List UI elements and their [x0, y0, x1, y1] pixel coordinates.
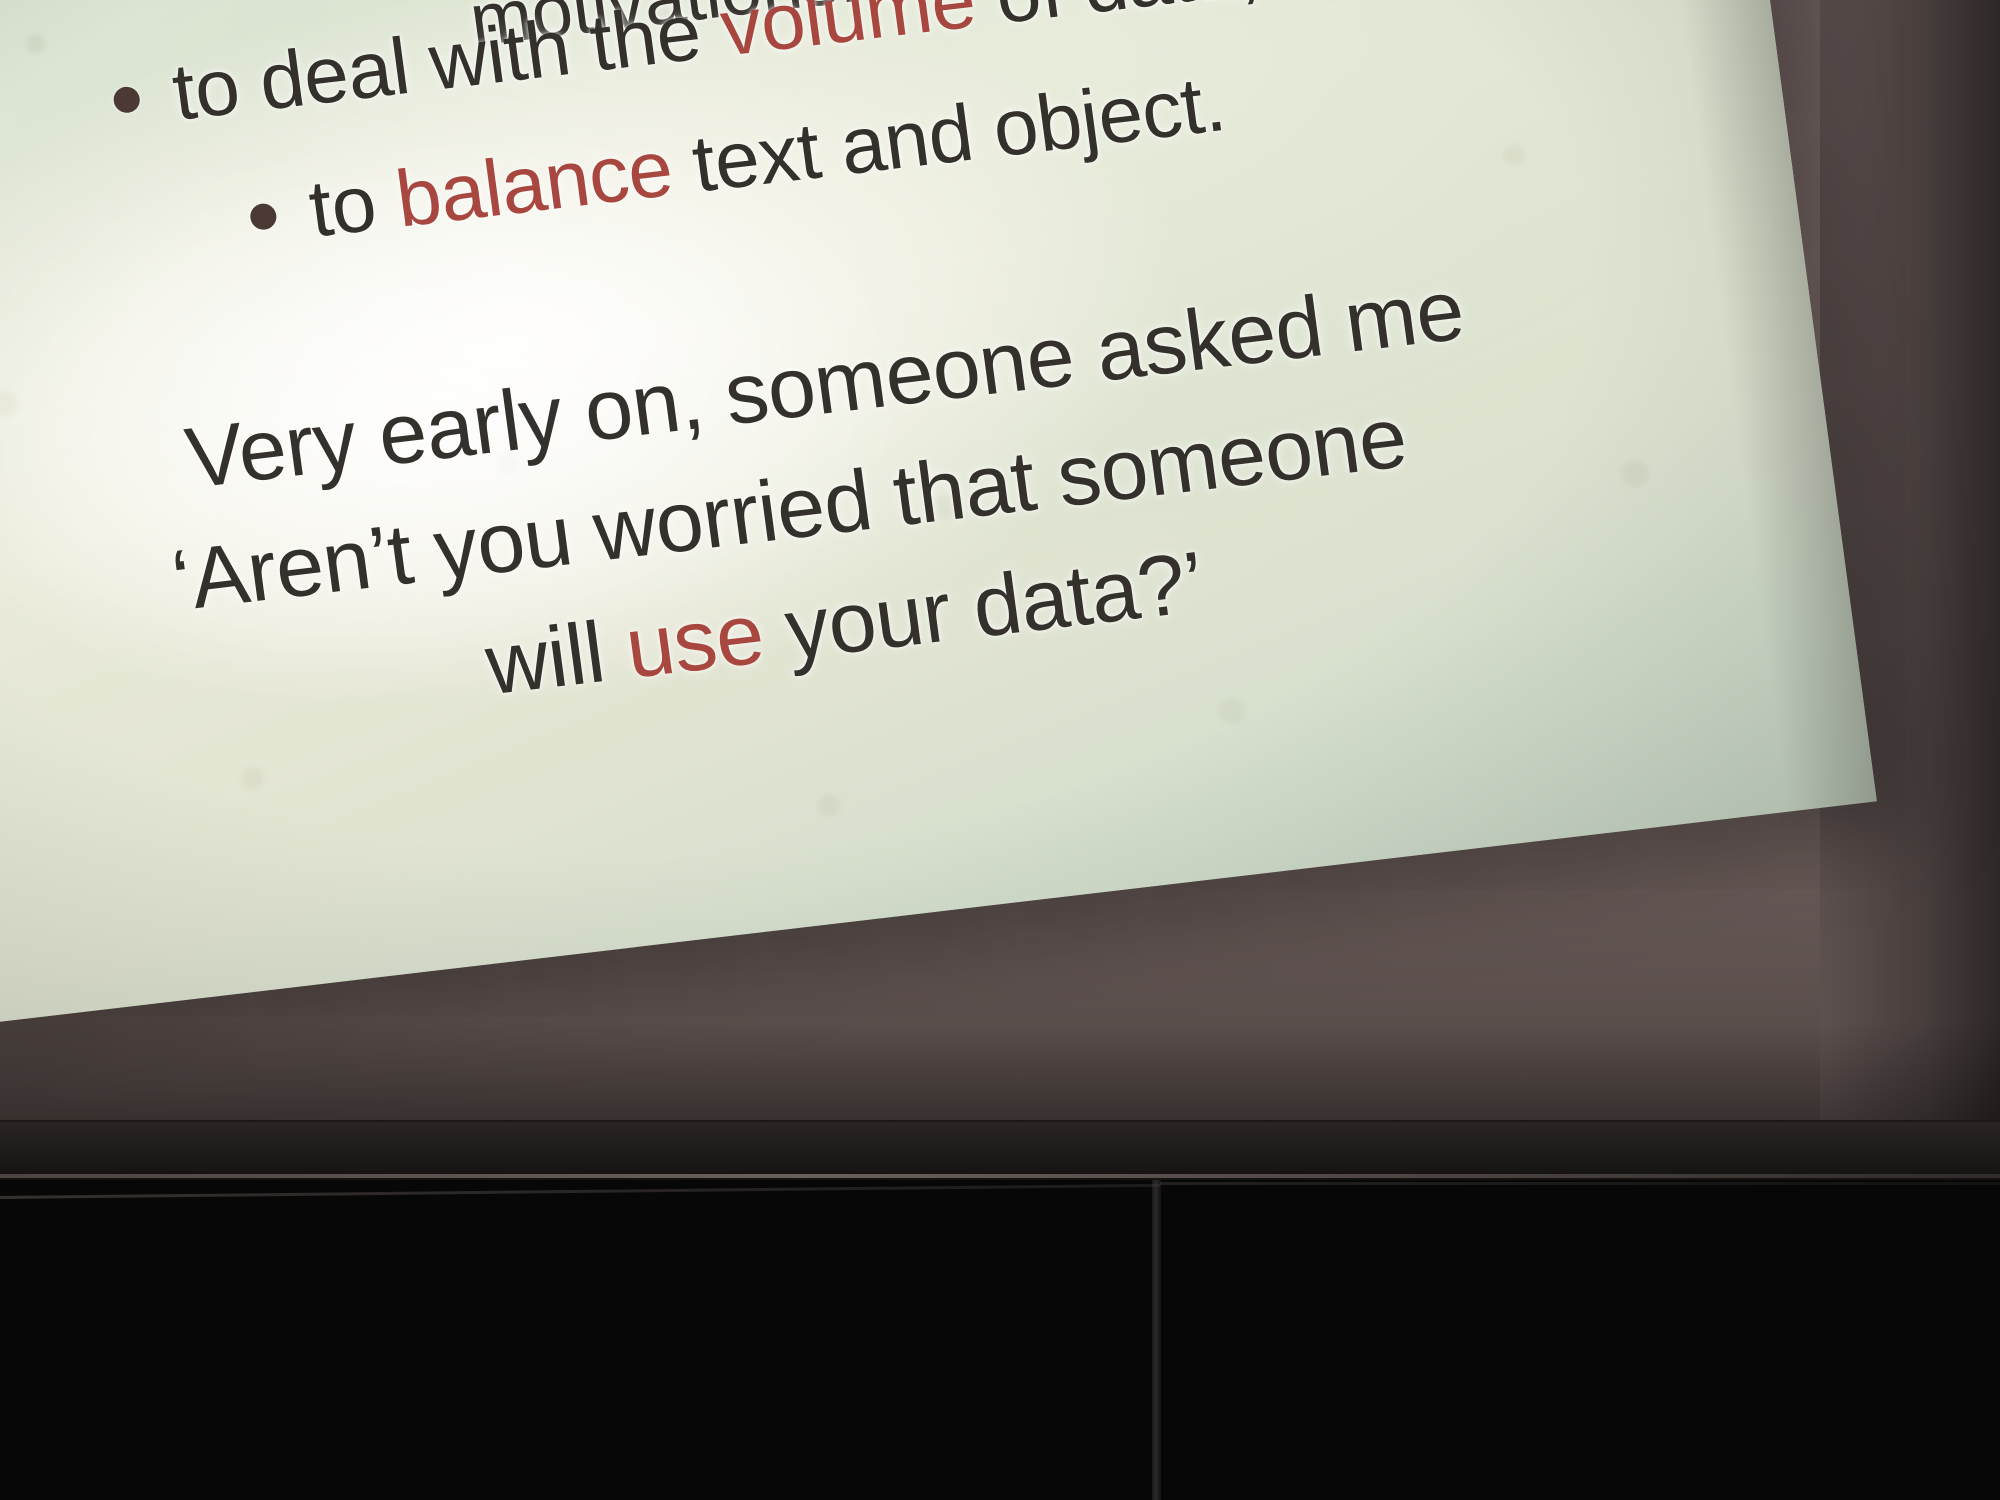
quote-3-accent-use: use	[620, 586, 769, 697]
blackboard-top-edge-right	[1160, 1182, 2000, 1185]
bullet-1-text-b: of data;	[969, 0, 1263, 43]
screenshot-root: 000s. My principal motivations: nline in…	[0, 0, 2000, 1500]
quote-3-text-a: will	[480, 602, 633, 714]
blackboard-seam	[1152, 1180, 1161, 1500]
bullet-1-text-a: to deal with the	[167, 0, 727, 137]
quote-3-text-b: your data?’	[756, 534, 1209, 681]
bullet-2-accent-balance: balance	[391, 123, 678, 244]
bullet-1-accent-volume: volume	[715, 0, 980, 73]
ledge-highlight-line	[0, 1174, 2000, 1178]
wall-ledge-band	[0, 1122, 2000, 1180]
bullet-dot-icon	[112, 85, 141, 114]
blackboard	[0, 1180, 2000, 1500]
bullet-dot-icon	[249, 202, 278, 231]
bullet-2-text-a: to	[304, 155, 403, 253]
bullet-2-text-b: text and object.	[666, 58, 1230, 211]
